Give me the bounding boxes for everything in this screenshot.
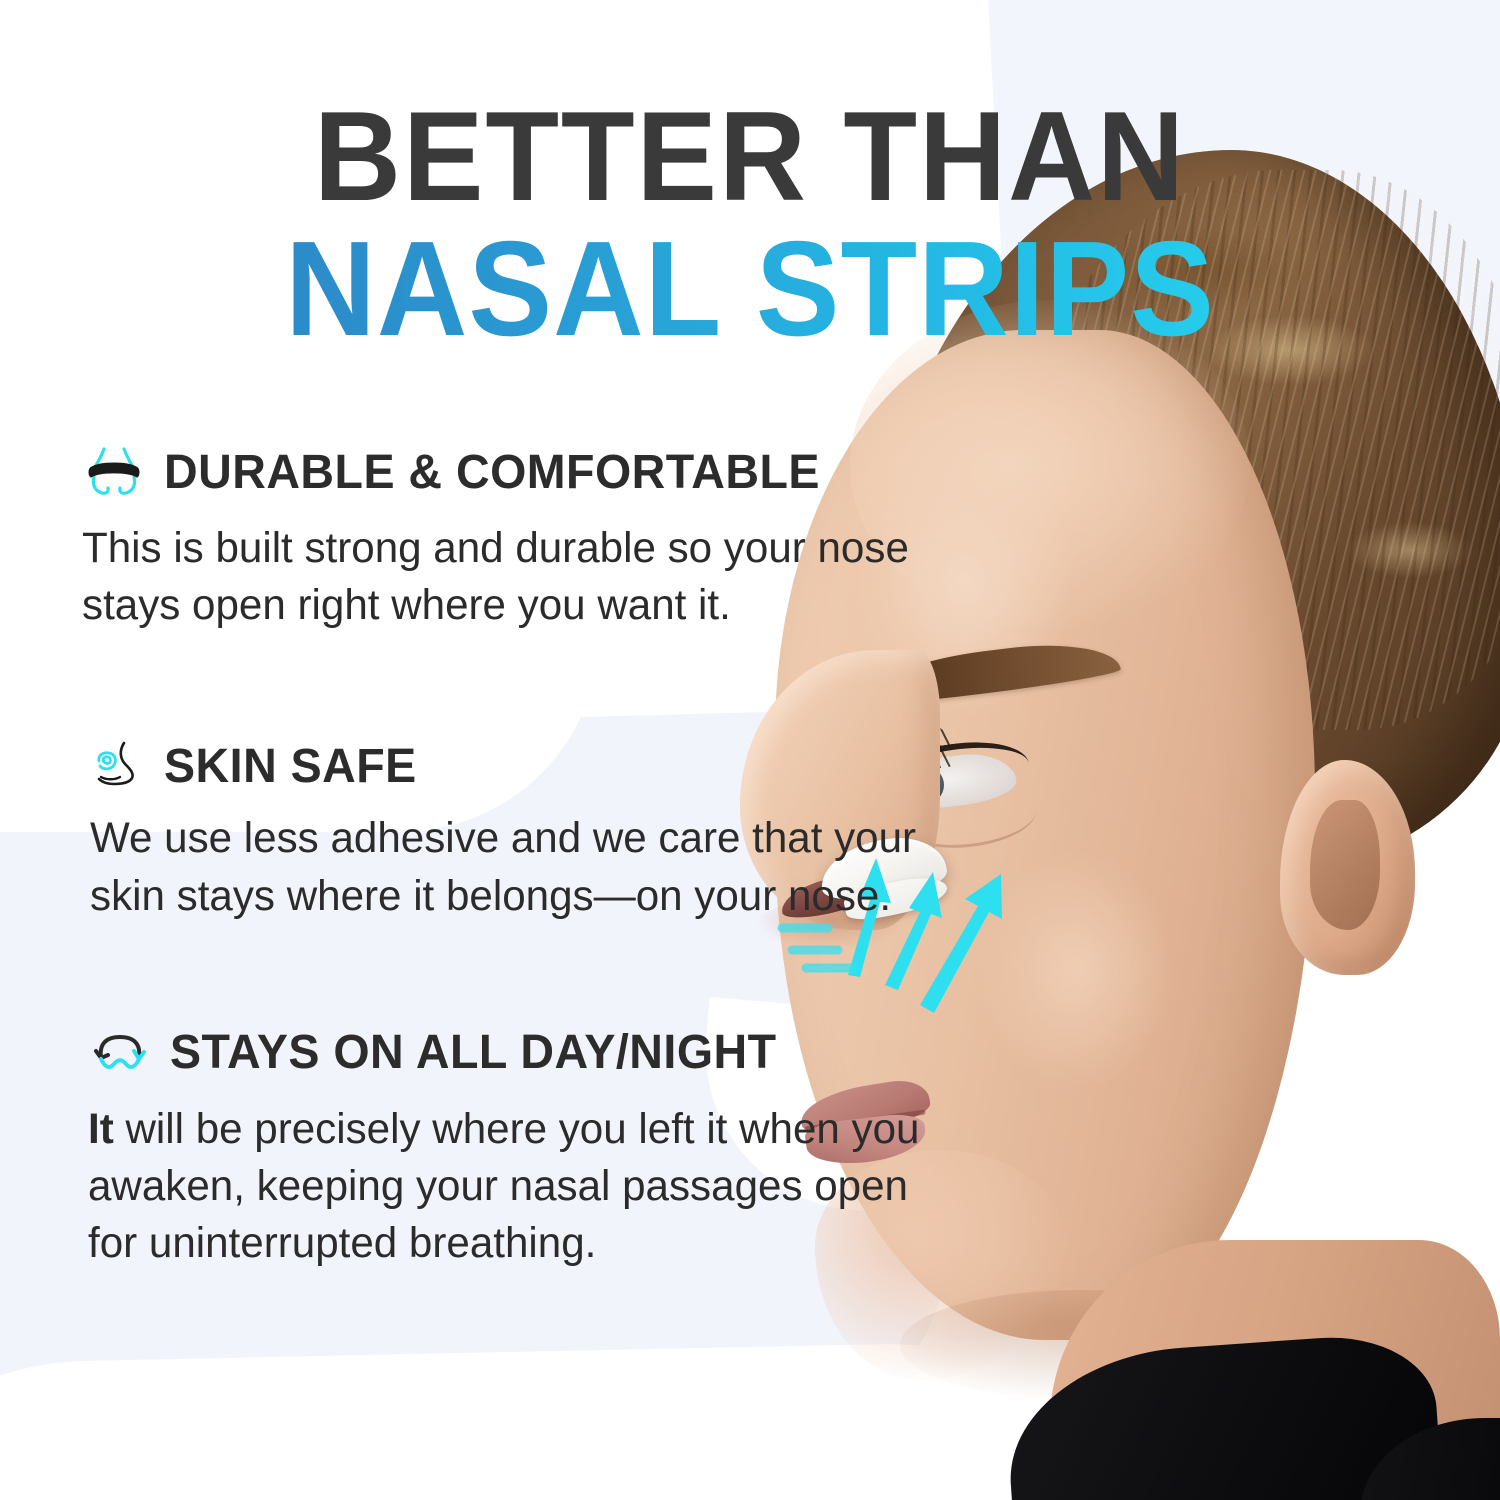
feature-list: DURABLE & COMFORTABLE This is built stro… (82, 440, 962, 1272)
feature-title: DURABLE & COMFORTABLE (164, 445, 820, 500)
feature-title: STAYS ON ALL DAY/NIGHT (170, 1025, 777, 1080)
ear-inner (1310, 800, 1380, 930)
feature-item-durable-comfortable: DURABLE & COMFORTABLE This is built stro… (82, 440, 962, 634)
nose-strip-icon (82, 440, 146, 504)
feature-header: SKIN SAFE (90, 738, 962, 794)
feature-description-rest: will be precisely where you left it when… (88, 1105, 919, 1267)
feature-description: This is built strong and durable so your… (82, 520, 925, 634)
feature-header: STAYS ON ALL DAY/NIGHT (88, 1021, 962, 1085)
feature-title: SKIN SAFE (164, 739, 417, 794)
day-night-cycle-icon (88, 1021, 152, 1085)
promo-infographic: BETTER THAN NASAL STRIPS (0, 0, 1500, 1500)
feature-description: We use less adhesive and we care that yo… (90, 810, 933, 924)
feature-description: It will be precisely where you left it w… (88, 1101, 931, 1273)
feature-item-stays-on-all-day-night: STAYS ON ALL DAY/NIGHT It will be precis… (88, 1021, 962, 1273)
feature-item-skin-safe: SKIN SAFE We use less adhesive and we ca… (90, 738, 962, 924)
feature-header: DURABLE & COMFORTABLE (82, 440, 962, 504)
nose-skin-safe-icon (90, 738, 146, 794)
feature-description-lead: It (88, 1105, 114, 1153)
